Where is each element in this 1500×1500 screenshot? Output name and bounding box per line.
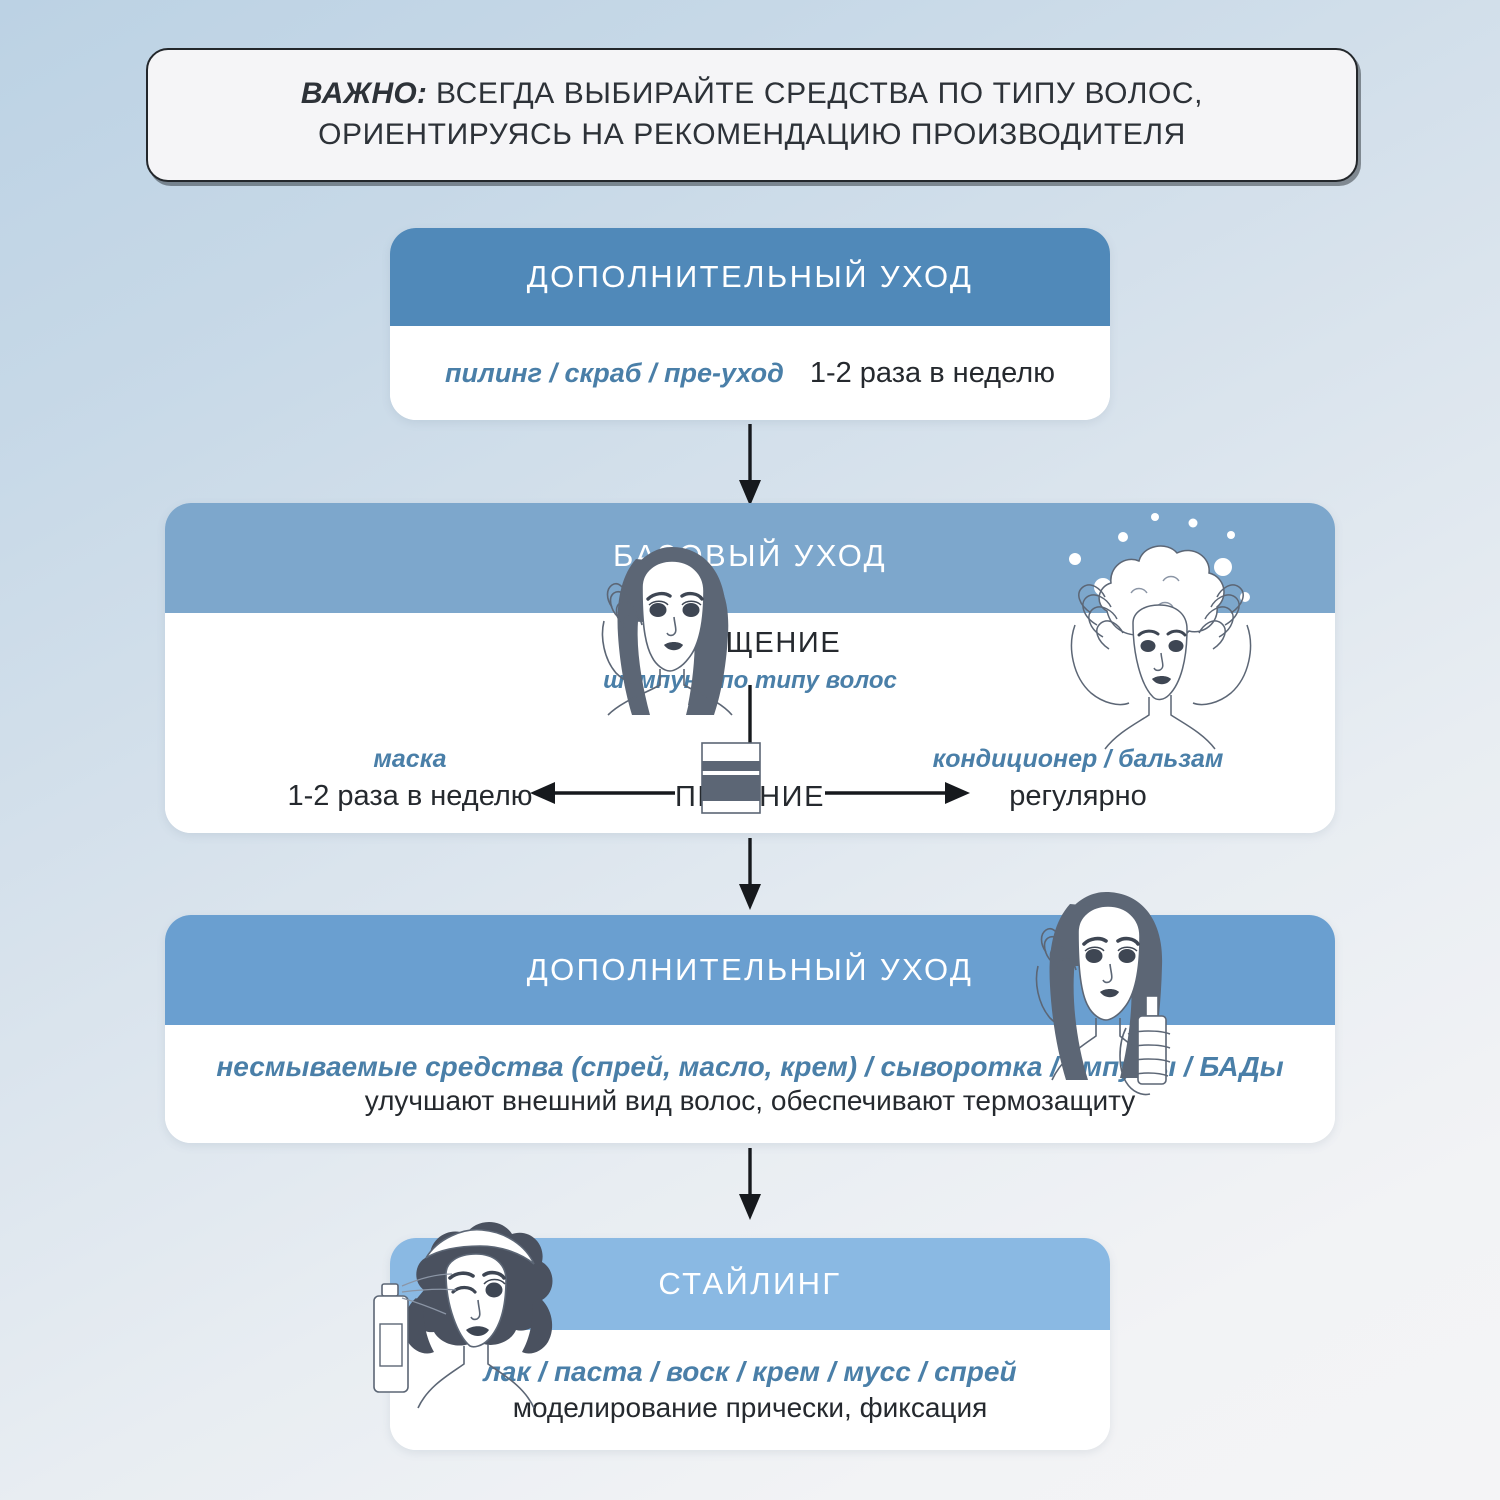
card1-title: ДОПОЛНИТЕЛЬНЫЙ УХОД	[527, 259, 974, 295]
card-extra-care-top[interactable]: ДОПОЛНИТЕЛЬНЫЙ УХОД пилинг / скраб / пре…	[390, 228, 1110, 420]
card2-right-frequency: регулярно	[843, 780, 1313, 813]
card1-body: пилинг / скраб / пре-уход 1-2 раза в нед…	[390, 326, 1110, 420]
card2-cleansing-products: шампунь по типу волос	[165, 667, 1335, 695]
woman-holding-serum-bottle-icon	[1000, 868, 1200, 1118]
important-banner: ВАЖНО: ВСЕГДА ВЫБИРАЙТЕ СРЕДСТВА ПО ТИПУ…	[146, 48, 1358, 182]
banner-emphasis: ВАЖНО:	[301, 77, 427, 110]
card2-cleansing-block: ОЧИЩЕНИЕ шампунь по типу волос	[165, 627, 1335, 695]
card2-title: БАЗОВЫЙ УХОД	[613, 538, 887, 574]
card2-body: ОЧИЩЕНИЕ шампунь по типу волос ПИТАНИЕ м…	[165, 613, 1335, 833]
card2-header: БАЗОВЫЙ УХОД	[165, 503, 1335, 613]
banner-line1-rest: ВСЕГДА ВЫБИРАЙТЕ СРЕДСТВА ПО ТИПУ ВОЛОС,	[427, 77, 1203, 110]
card2-left-frequency: 1-2 раза в неделю	[195, 780, 625, 813]
card-basic-care[interactable]: БАЗОВЫЙ УХОД ОЧИЩЕНИЕ шампунь по типу во…	[165, 503, 1335, 833]
connector-arrow-3	[728, 1148, 772, 1222]
infographic-root: ВАЖНО: ВСЕГДА ВЫБИРАЙТЕ СРЕДСТВА ПО ТИПУ…	[0, 0, 1500, 1500]
card2-cleansing-label: ОЧИЩЕНИЕ	[165, 627, 1335, 660]
card2-right-block: кондиционер / бальзам регулярно	[843, 745, 1313, 813]
card1-header: ДОПОЛНИТЕЛЬНЫЙ УХОД	[390, 228, 1110, 326]
connector-arrow-2	[728, 838, 772, 912]
banner-line2: ОРИЕНТИРУЯСЬ НА РЕКОМЕНДАЦИЮ ПРОИЗВОДИТЕ…	[318, 118, 1186, 151]
woman-with-hairspray-icon	[360, 1212, 590, 1442]
card1-products: пилинг / скраб / пре-уход	[445, 358, 784, 389]
card2-right-products: кондиционер / бальзам	[843, 745, 1313, 774]
card1-frequency: 1-2 раза в неделю	[810, 357, 1055, 390]
card2-left-products: маска	[195, 745, 625, 774]
card4-title: СТАЙЛИНГ	[658, 1266, 841, 1302]
card2-left-block: маска 1-2 раза в неделю	[195, 745, 625, 813]
card3-title: ДОПОЛНИТЕЛЬНЫЙ УХОД	[527, 952, 974, 988]
important-banner-text: ВАЖНО: ВСЕГДА ВЫБИРАЙТЕ СРЕДСТВА ПО ТИПУ…	[267, 74, 1237, 156]
connector-arrow-1	[728, 424, 772, 508]
